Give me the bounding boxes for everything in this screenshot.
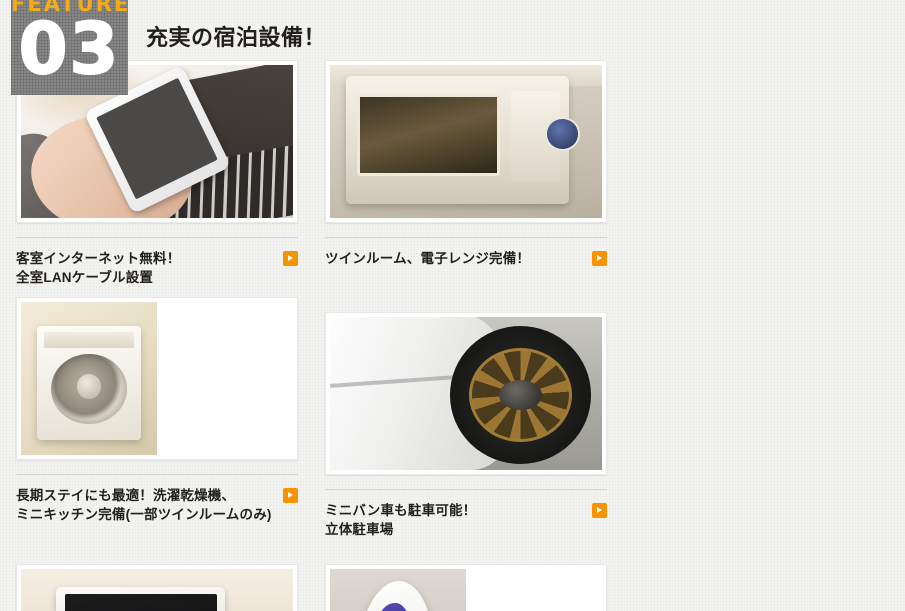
feature-caption: 長期ステイにも最適！洗濯乾燥機、 ミニキッチン完備(一部ツインルームのみ) <box>16 486 277 524</box>
photo-frame[interactable] <box>325 564 607 611</box>
caption-block: ツインルーム、電子レンジ完備！ <box>325 237 607 268</box>
steam-iron-photo <box>330 569 466 611</box>
feature-card-rental-equipment[interactable]: スーツのしわとりにズボンプレッサーや アイロン等の貸出備品が充実！ <box>325 564 618 611</box>
long-stay-photo-pair <box>21 302 293 455</box>
photo-frame[interactable] <box>16 564 298 611</box>
feature-caption: ミニバン車も駐車可能！ 立体駐車場 <box>325 501 586 539</box>
washer-dryer-photo <box>21 302 157 455</box>
feature-badge: FEATURE 03 <box>11 0 128 95</box>
photo-frame[interactable] <box>325 60 607 223</box>
caption-block: ミニバン車も駐車可能！ 立体駐車場 <box>325 489 607 539</box>
feature-card-twin-room-microwave[interactable]: ツインルーム、電子レンジ完備！ <box>325 60 618 287</box>
photo-frame[interactable] <box>325 312 607 475</box>
play-arrow-icon[interactable] <box>283 488 298 503</box>
microwave-oven-photo <box>330 65 602 218</box>
feature-card-parking[interactable]: ミニバン車も駐車可能！ 立体駐車場 <box>325 312 618 539</box>
feature-caption: ツインルーム、電子レンジ完備！ <box>325 249 586 268</box>
feature-grid: 客室インターネット無料！ 全室LANケーブル設置 ツインルーム、電子レンジ完備！ <box>0 60 905 611</box>
feature-card-long-stay[interactable]: 長期ステイにも最適！洗濯乾燥機、 ミニキッチン完備(一部ツインルームのみ) <box>16 297 309 539</box>
car-wheel-photo <box>330 317 602 470</box>
play-arrow-icon[interactable] <box>592 503 607 518</box>
play-arrow-icon[interactable] <box>283 251 298 266</box>
caption-block: 長期ステイにも最適！洗濯乾燥機、 ミニキッチン完備(一部ツインルームのみ) <box>16 474 298 524</box>
page-title: 充実の宿泊設備！ <box>146 20 326 52</box>
feature-card-video[interactable]: ビデオ放送無料！アニメ、スポーツ、 成人向けチャンネルが見放題！ <box>16 564 309 611</box>
television-photo <box>21 569 293 611</box>
play-arrow-icon[interactable] <box>592 251 607 266</box>
caption-block: 客室インターネット無料！ 全室LANケーブル設置 <box>16 237 298 287</box>
photo-frame[interactable] <box>16 297 298 460</box>
rental-equipment-photo-pair <box>330 569 602 611</box>
feature-caption: 客室インターネット無料！ 全室LANケーブル設置 <box>16 249 277 287</box>
feature-badge-number: 03 <box>11 13 128 85</box>
